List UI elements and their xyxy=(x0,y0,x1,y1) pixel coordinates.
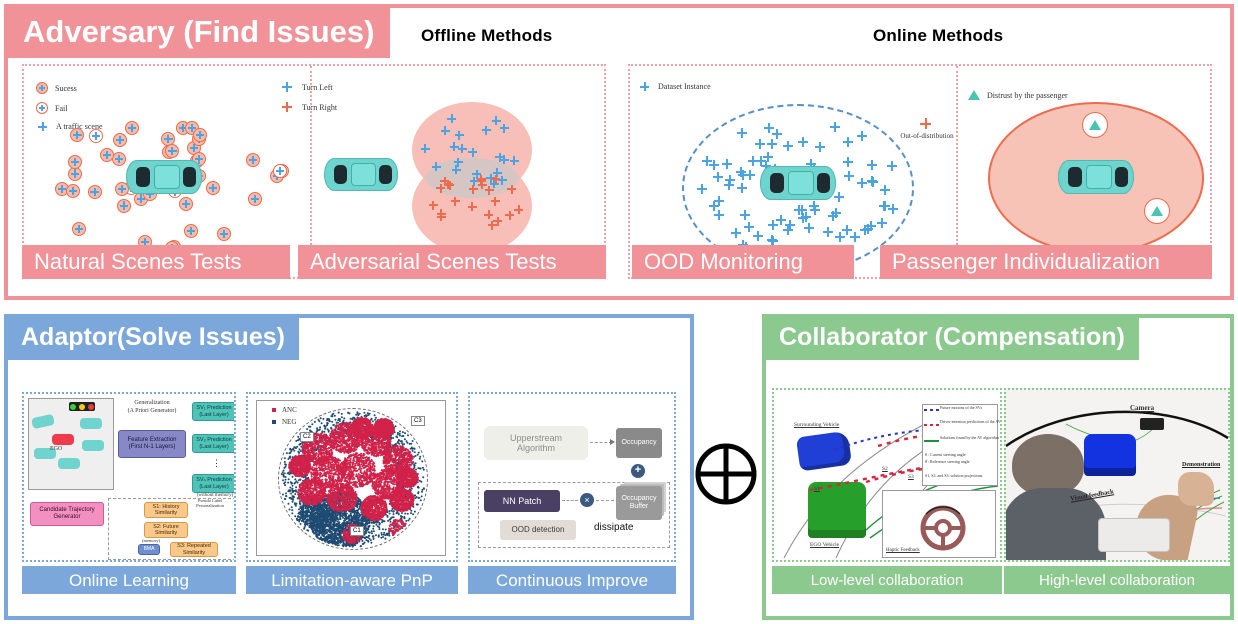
driver-head xyxy=(1012,434,1084,496)
turn-right-marker xyxy=(468,202,477,211)
plus-operator-icon: + xyxy=(631,464,645,478)
dataset-instance-marker xyxy=(888,204,898,214)
cluster-label-c2: C2 xyxy=(300,432,314,442)
limitation-aware-pnp-plot: ANC NEG C3 C2 C1 xyxy=(246,392,458,562)
dataset-instance-marker xyxy=(731,228,741,238)
scene-marker-success xyxy=(113,133,127,147)
legend-dataset-instance: Dataset Instance xyxy=(640,82,711,91)
neg-swatch xyxy=(272,420,276,424)
dataset-instance-marker xyxy=(877,218,887,228)
chip-high-level-collaboration[interactable]: High-level collaboration xyxy=(1004,566,1230,594)
dataset-instance-marker xyxy=(737,128,747,138)
dataset-instance-marker xyxy=(830,122,840,132)
dataset-instance-marker xyxy=(804,223,814,233)
turn-left-marker xyxy=(450,142,459,151)
dataset-instance-marker xyxy=(809,201,819,211)
dataset-instance-marker xyxy=(797,205,807,215)
dataset-instance-marker xyxy=(740,210,750,220)
triangle-teal-icon xyxy=(1089,120,1101,130)
turn-right-marker xyxy=(478,180,487,189)
ego-label: EGO xyxy=(50,446,62,452)
turn-right-marker xyxy=(484,210,493,219)
dataset-instance-marker xyxy=(857,178,867,188)
occupancy-box: Occupancy xyxy=(616,428,662,458)
svn-prediction-box: SVₙ Prediction(Last Layer) xyxy=(192,474,236,493)
chip-passenger-individualization[interactable]: Passenger Individualization xyxy=(880,245,1212,279)
turn-left-marker xyxy=(495,153,504,162)
scene-marker-success xyxy=(165,144,179,158)
plus-blue-icon xyxy=(640,82,649,91)
continuous-improve-diagram: UpperstreamAlgorithm Occupancy + NN Patc… xyxy=(468,392,676,562)
camera-label: Camera xyxy=(1130,404,1154,412)
adversarial-cross-markers xyxy=(404,96,544,262)
chip-natural-scenes-tests[interactable]: Natural Scenes Tests xyxy=(22,245,290,279)
dataset-instance-marker xyxy=(863,224,873,234)
turn-left-marker xyxy=(447,114,456,123)
dataset-instance-marker xyxy=(880,185,890,195)
multiply-operator-icon: × xyxy=(580,493,594,507)
triangle-teal-icon xyxy=(968,90,980,100)
turn-left-marker xyxy=(500,124,509,133)
s3-repeated-similarity-box: S3: RepeatedSimilarity xyxy=(170,542,218,557)
turn-right-marker xyxy=(429,201,438,210)
dataset-instance-marker xyxy=(724,180,734,190)
scene-marker-success xyxy=(112,152,126,166)
dataset-instance-marker xyxy=(767,139,777,149)
cluster-label-c3: C3 xyxy=(411,416,425,426)
scene-marker-fail xyxy=(89,129,103,143)
dataset-instance-marker xyxy=(843,137,853,147)
scene-marker-success xyxy=(179,197,193,211)
s3-label: S3 xyxy=(908,474,914,480)
dataset-instance-marker xyxy=(713,172,723,182)
bma-box: BMA xyxy=(138,544,160,555)
turn-right-marker xyxy=(488,221,497,230)
legend-reference-steering: θ̂ : Reference steering angle xyxy=(925,460,997,465)
chip-continuous-improve[interactable]: Continuous Improve xyxy=(468,566,676,594)
scene-marker-success xyxy=(217,227,231,241)
out-of-distribution-label: Out-of-distribution xyxy=(882,132,972,140)
generalization-label: Generalization(A Priori Generator) xyxy=(116,400,188,415)
dataset-instance-marker xyxy=(844,171,854,181)
distrust-marker-1 xyxy=(1082,112,1108,138)
distrust-marker-2 xyxy=(1144,198,1170,224)
scene-marker-success xyxy=(72,222,86,236)
dataset-instance-marker xyxy=(737,183,747,193)
figure-root: Adversary (Find Issues) Offline Methods … xyxy=(0,0,1238,624)
scene-marker-success xyxy=(184,224,198,238)
online-learning-diagram: EGO Generalization(A Priori Generator) F… xyxy=(22,392,236,562)
turn-left-marker xyxy=(510,156,519,165)
ego-car-ood xyxy=(760,166,836,200)
turn-left-marker xyxy=(482,126,491,135)
dataset-instance-marker xyxy=(798,137,808,147)
chip-low-level-collaboration[interactable]: Low-level collaboration xyxy=(772,566,1002,594)
dataset-instance-marker xyxy=(702,156,712,166)
dataset-instance-marker xyxy=(815,142,825,152)
turn-right-marker xyxy=(491,175,500,184)
ego-car-natural xyxy=(126,160,202,194)
turn-right-marker xyxy=(444,180,453,189)
turn-left-marker xyxy=(468,148,477,157)
dataset-instance-marker xyxy=(868,177,878,187)
scene-marker-success xyxy=(88,185,102,199)
out-of-distribution-marker xyxy=(920,118,931,129)
occupancy-buffer-box: OccupancyBuffer xyxy=(616,486,662,520)
turn-right-marker xyxy=(491,197,500,206)
dataset-instance-marker xyxy=(722,159,732,169)
sv2-prediction-box: SV₂ Prediction(Last Layer) xyxy=(192,434,236,453)
traffic-light-icon xyxy=(69,402,95,411)
turn-left-marker xyxy=(441,126,450,135)
candidate-trajectory-generator-box: Candidate TrajectoryGenerator xyxy=(30,502,104,526)
triangle-teal-icon xyxy=(1151,206,1163,216)
scene-marker-success xyxy=(125,121,139,135)
scene-marker-fail xyxy=(273,164,287,178)
lead-vehicle xyxy=(1084,434,1136,476)
memory-label: (memory) xyxy=(142,538,160,543)
turn-right-marker xyxy=(437,212,446,221)
anc-swatch xyxy=(272,408,276,412)
dataset-instance-marker xyxy=(867,160,877,170)
turn-right-marker xyxy=(469,185,478,194)
dataset-instance-marker xyxy=(834,192,844,202)
upperstream-algorithm-box: UpperstreamAlgorithm xyxy=(484,426,588,460)
ego-car-adversarial xyxy=(324,158,398,191)
scene-car xyxy=(58,458,80,469)
chip-limitation-aware-pnp[interactable]: Limitation-aware PnP xyxy=(246,566,458,594)
dataset-instance-marker xyxy=(714,196,724,206)
scene-car xyxy=(80,418,102,429)
dataset-instance-marker xyxy=(857,131,867,141)
adaptor-section-title: Adaptor(Solve Issues) xyxy=(7,317,299,360)
steering-wheel-icon xyxy=(914,496,972,554)
chip-online-learning[interactable]: Online Learning xyxy=(22,566,236,594)
scene-marker-success xyxy=(193,128,207,142)
dataset-instance-marker xyxy=(887,161,897,171)
dataset-instance-marker xyxy=(738,170,748,180)
dataset-instance-marker xyxy=(768,220,778,230)
low-level-collaboration-figure: Surrounding Vehicle EGO Vehicle S1 S2 S3… xyxy=(772,388,1002,562)
feature-extraction-box: Feature Extraction(First N-1 Layers) xyxy=(118,430,186,458)
cluster-label-c1: C1 xyxy=(350,526,364,536)
driver-hand xyxy=(1178,472,1214,506)
dataset-instance-marker xyxy=(753,231,763,241)
circled-plus-operator xyxy=(692,440,760,508)
scene-marker-success xyxy=(248,192,262,206)
ood-detection-box: OOD detection xyxy=(500,520,576,540)
dataset-instance-marker xyxy=(843,157,853,167)
pseudo-label-personalization-label: Pseudo LabelPersonalization xyxy=(184,498,236,508)
dataset-instance-marker xyxy=(831,208,841,218)
dataset-instance-marker xyxy=(850,232,860,242)
legend-solution-projections: S1, S2, and S3: solution projections. xyxy=(925,474,997,479)
online-methods-title: Online Methods xyxy=(873,26,1003,46)
scene-marker-success xyxy=(66,184,80,198)
dataset-instance-marker xyxy=(697,184,707,194)
scene-marker-success xyxy=(117,199,131,213)
scene-car-ego xyxy=(52,434,74,445)
high-level-collaboration-figure: Camera Visual feedback Demonstration xyxy=(1004,388,1230,562)
ego-car-passenger xyxy=(1058,160,1134,194)
s1-label: S1 xyxy=(814,486,820,492)
scene-marker-success xyxy=(100,148,114,162)
legend-sample-lines xyxy=(924,406,940,458)
scene-marker-success xyxy=(70,128,84,142)
turn-left-marker xyxy=(432,162,441,171)
chip-ood-monitoring[interactable]: OOD Monitoring xyxy=(632,245,854,279)
turn-right-marker xyxy=(507,185,516,194)
camera-icon xyxy=(1140,418,1164,430)
scene-marker-success xyxy=(246,153,260,167)
offline-methods-title: Offline Methods xyxy=(421,26,552,46)
arrow-upperstream-occupancy xyxy=(590,442,612,443)
demonstration-label: Demonstration xyxy=(1182,462,1220,468)
adversary-section-title: Adversary (Find Issues) xyxy=(7,7,390,58)
s2-label: S2 xyxy=(882,466,888,472)
scene-car xyxy=(82,440,104,451)
vertical-ellipsis: ⋮ xyxy=(212,458,222,469)
scene-marker-success xyxy=(206,181,220,195)
arrow-multiply-buffer xyxy=(596,500,614,501)
dataset-instance-marker xyxy=(783,141,793,151)
dataset-instance-marker xyxy=(823,227,833,237)
turn-left-marker xyxy=(458,144,467,153)
arrow-nnpatch-multiply xyxy=(562,500,578,501)
nn-patch-box: NN Patch xyxy=(484,490,560,512)
turn-right-marker xyxy=(505,211,514,220)
turn-left-marker xyxy=(454,158,463,167)
dataset-instance-marker xyxy=(785,220,795,230)
dataset-instance-marker xyxy=(772,129,782,139)
s2-future-similarity-box: S2: FutureSimilarity xyxy=(144,522,188,538)
turn-right-marker xyxy=(451,197,460,206)
arrowhead-icon xyxy=(610,439,615,445)
turn-left-marker xyxy=(455,131,464,140)
dataset-instance-marker xyxy=(767,235,777,245)
dataset-instance-marker xyxy=(755,139,765,149)
legend-driver-intention: Driver intention predictions of the AV xyxy=(940,420,996,425)
collaborator-section-title: Collaborator (Compensation) xyxy=(765,317,1139,360)
dashboard-cluster xyxy=(1098,518,1170,552)
turn-right-marker xyxy=(514,205,523,214)
dissipate-label: dissipate xyxy=(594,522,633,533)
scene-marker-success xyxy=(68,155,82,169)
turn-left-marker xyxy=(421,144,430,153)
sv1-prediction-box: SV₁ Prediction(Last Layer) xyxy=(192,402,236,421)
legend-distrust-passenger: Distrust by the passenger xyxy=(968,90,1068,100)
legend-future-motions: Future motions of the SVs xyxy=(940,406,996,411)
dataset-instance-marker xyxy=(714,210,724,220)
legend-solutions-found: Solutions found by the AV algorithm xyxy=(940,436,996,441)
s1-history-similarity-box: S1: HistorySimilarity xyxy=(144,502,188,518)
chip-adversarial-scenes-tests[interactable]: Adversarial Scenes Tests xyxy=(298,245,606,279)
